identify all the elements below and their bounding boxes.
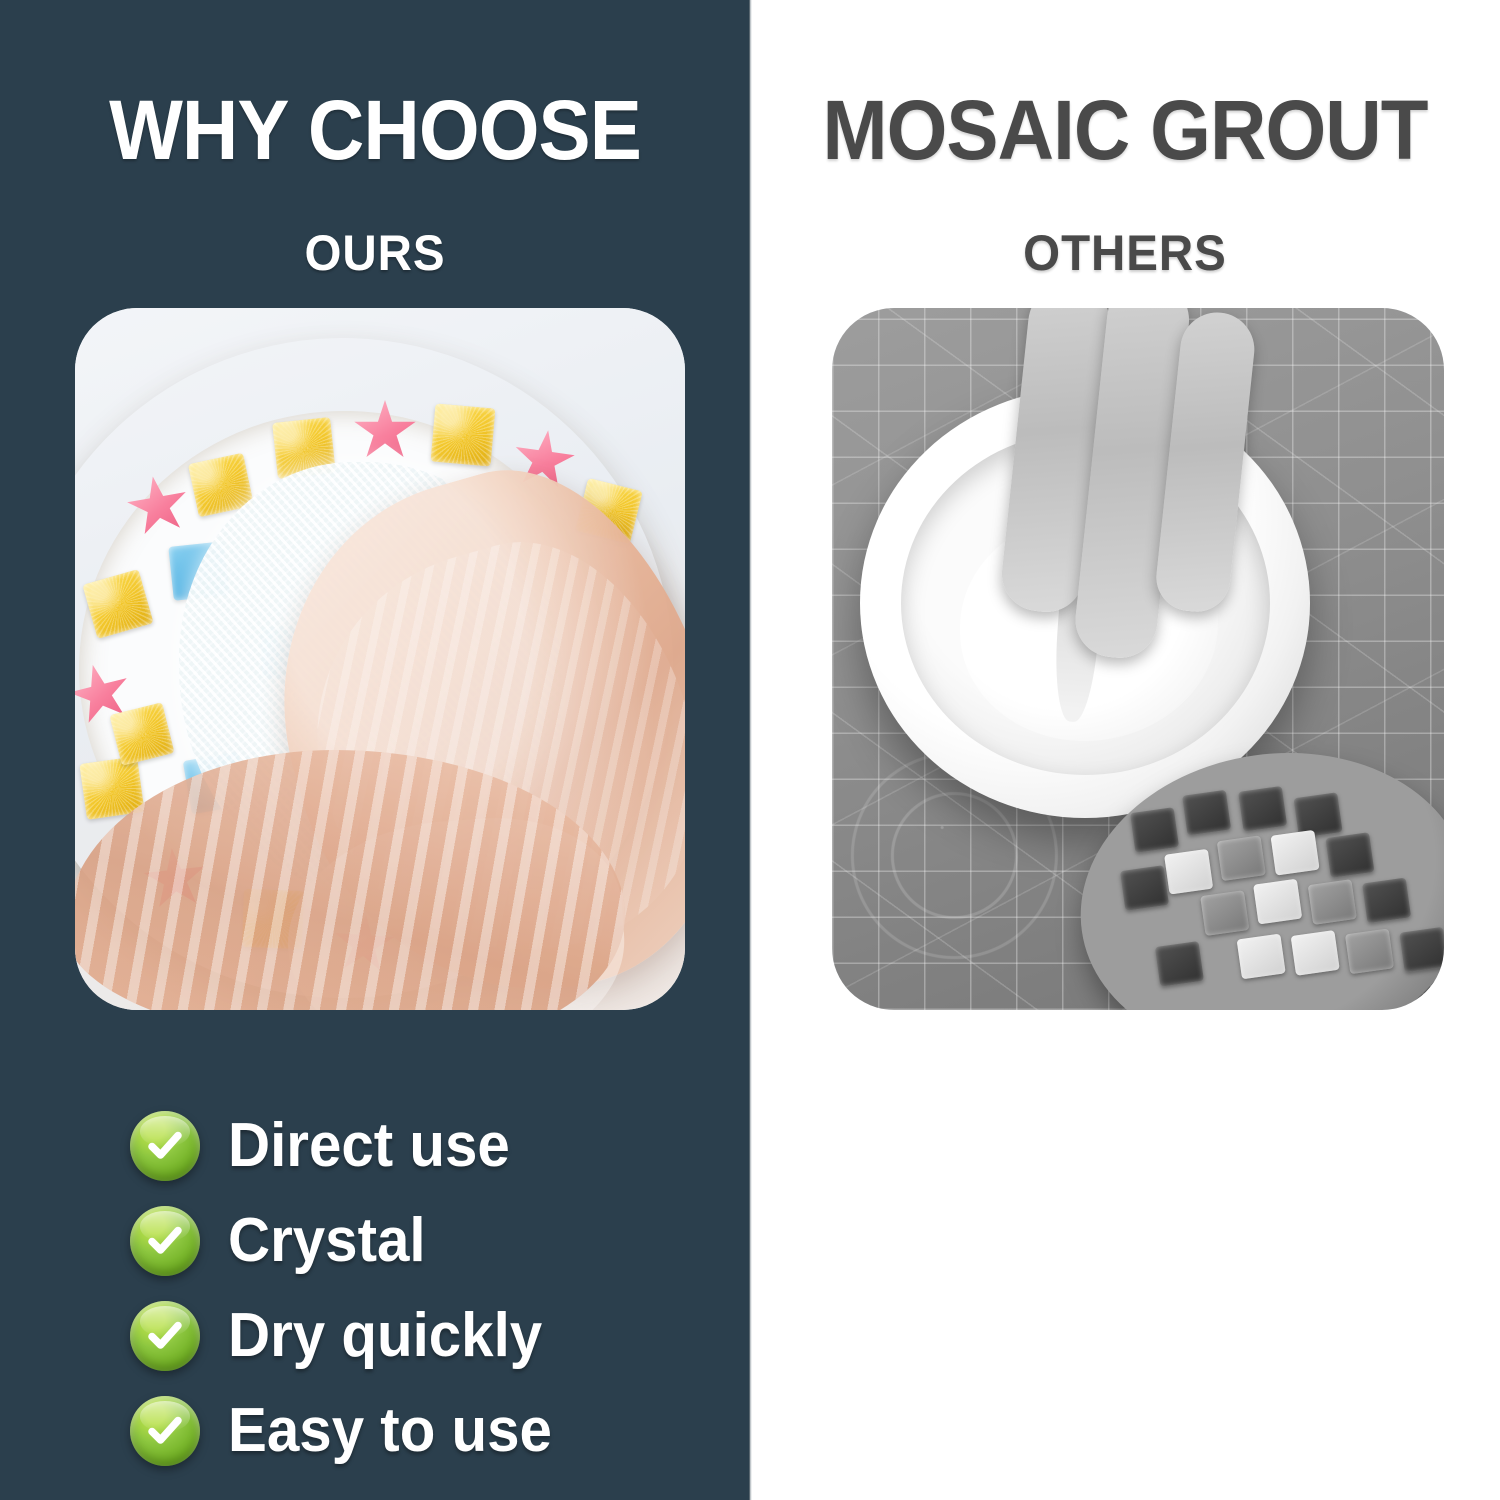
ours-photo-card (75, 308, 685, 1010)
list-item-label: Crystal (228, 1210, 426, 1272)
panel-divider (749, 0, 752, 1500)
coaster-tile (1308, 879, 1357, 925)
ours-panel: WHY CHOOSE OURS (0, 0, 750, 1500)
coaster-tile (1120, 865, 1169, 911)
coaster-tile (1237, 934, 1286, 980)
list-item: Dry quickly (130, 1288, 730, 1383)
bowl-mixing-grout-photo (832, 308, 1444, 1010)
coaster-tile (1362, 878, 1411, 924)
coaster-tile (1253, 879, 1302, 925)
coaster-tile (1325, 832, 1374, 878)
coaster-tile (1399, 927, 1444, 973)
coaster-tile (1155, 941, 1204, 987)
coaster-tile (1200, 890, 1249, 936)
subtitle-others: OTHERS (769, 228, 1482, 278)
check-circle-icon (130, 1396, 200, 1466)
subtitle-ours: OURS (19, 228, 732, 278)
list-item: Crystal (130, 1193, 730, 1288)
headline-left: WHY CHOOSE (26, 88, 724, 172)
coaster-tile (1182, 790, 1231, 836)
ours-feature-list: Direct use Crystal Dry quickly (130, 1098, 730, 1478)
coaster-tile (1217, 835, 1266, 881)
mosaic-tile-yellow (431, 403, 496, 466)
list-item: Direct use (130, 1098, 730, 1193)
others-photo-card (832, 308, 1444, 1010)
list-item: Easy to use (130, 1383, 730, 1478)
list-item-label: Dry quickly (228, 1305, 542, 1367)
list-item-label: Easy to use (228, 1400, 552, 1462)
headline-right: MOSAIC GROUT (776, 88, 1474, 172)
others-panel: MOSAIC GROUT OTHERS (750, 0, 1500, 1500)
coaster-tile (1238, 786, 1287, 832)
coaster-tile (1130, 807, 1179, 853)
check-circle-icon (130, 1301, 200, 1371)
check-circle-icon (130, 1206, 200, 1276)
coaster-tile (1345, 928, 1394, 974)
bamboo-tray-crystal-grout-photo (75, 308, 685, 1010)
list-item-label: Direct use (228, 1115, 510, 1177)
coaster-tile (1270, 830, 1319, 876)
coaster-tile (1291, 930, 1340, 976)
mixing-hand (979, 308, 1276, 762)
coaster-tile (1164, 849, 1213, 895)
comparison-poster: WHY CHOOSE OURS (0, 0, 1500, 1500)
check-circle-icon (130, 1111, 200, 1181)
